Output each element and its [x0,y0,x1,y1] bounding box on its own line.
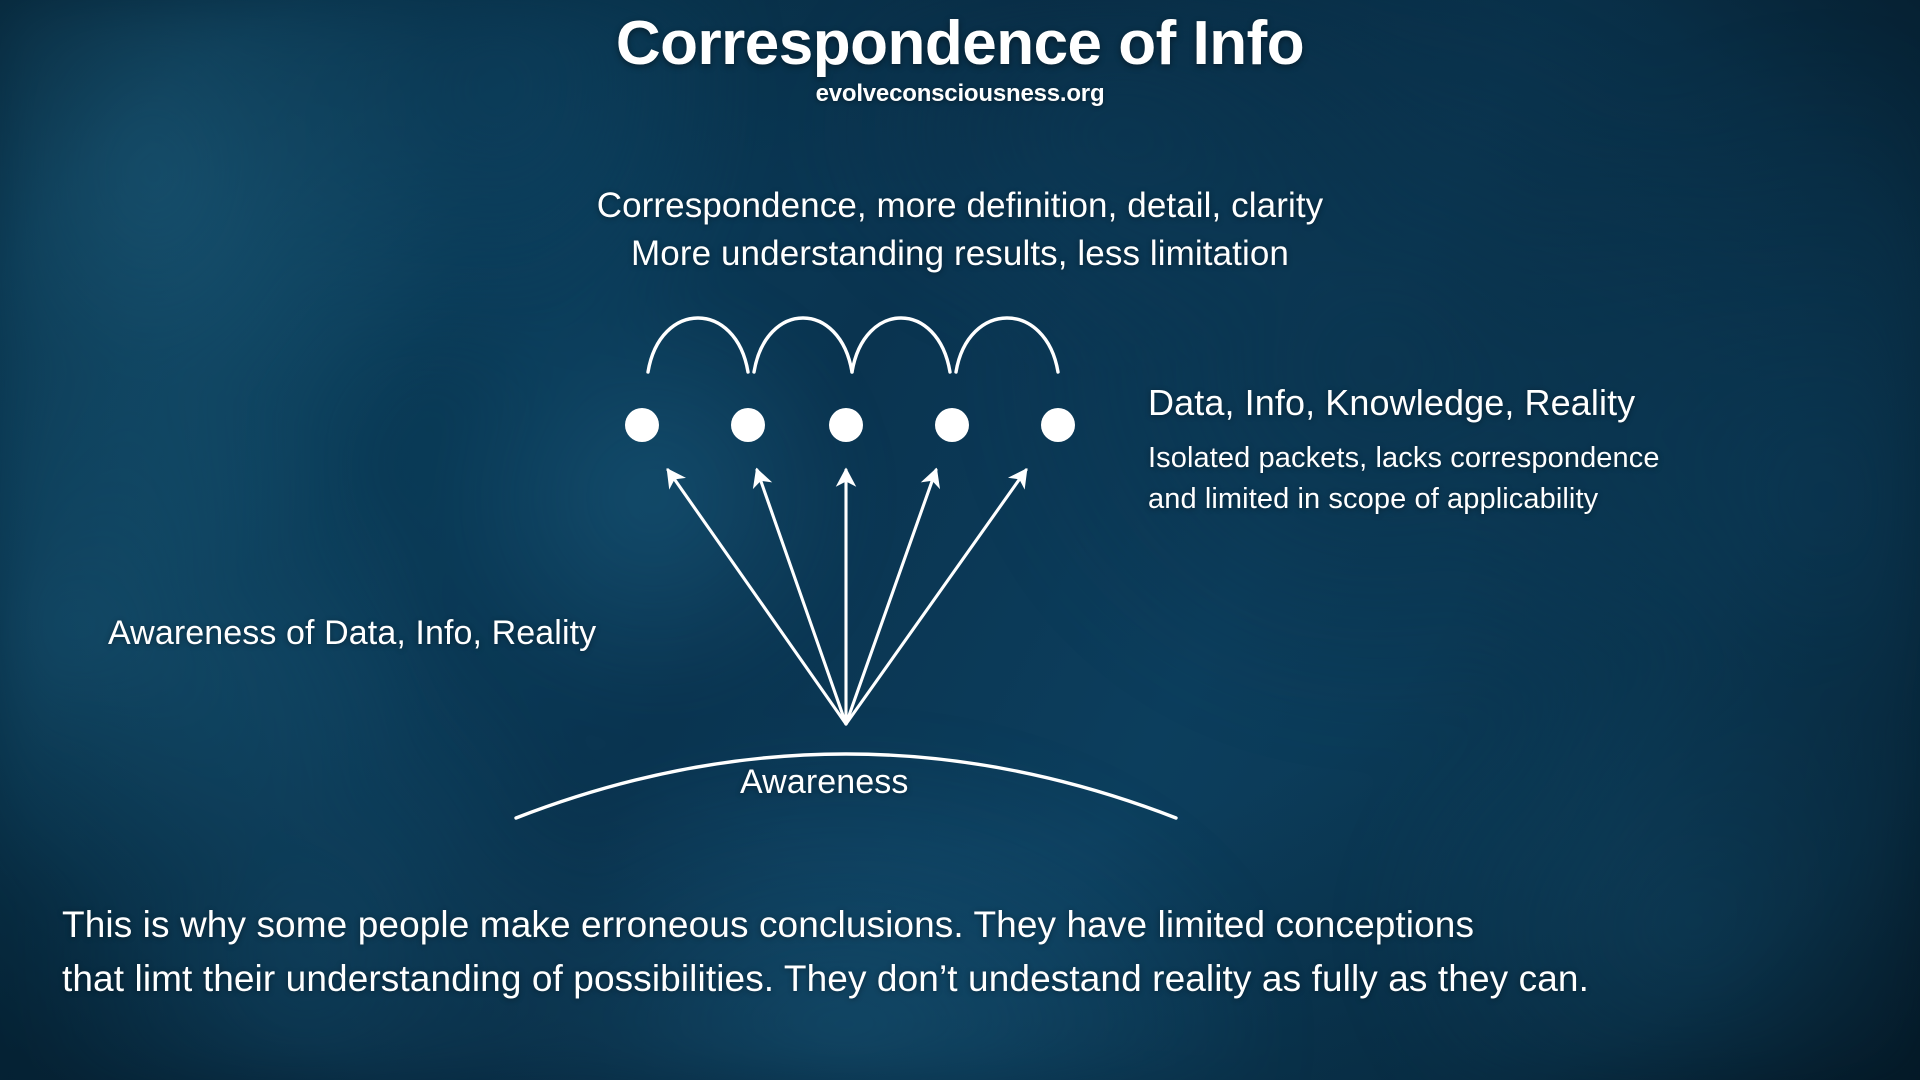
info-packet-node-1[interactable] [625,408,659,442]
awareness-arrow-group [668,470,1026,724]
awareness-label: Awareness [740,763,908,802]
site-url-label: evolveconsciousness.org [0,80,1920,108]
awareness-arrow-5 [846,470,1026,724]
slide-canvas: Correspondence of Info evolveconsciousne… [0,0,1920,1080]
connector-arc-4 [956,318,1058,372]
connector-arc-1 [648,318,748,372]
awareness-arrow-2 [757,470,846,724]
awareness-arrow-1 [668,470,846,724]
info-packet-node-5[interactable] [1041,408,1075,442]
conclusion-note: This is why some people make erroneous c… [62,898,1589,1006]
info-packet-node-4[interactable] [935,408,969,442]
info-packet-node-2[interactable] [731,408,765,442]
awareness-of-data-label: Awareness of Data, Info, Reality [108,614,596,653]
isolated-packets-description: Isolated packets, lacks correspondence a… [1148,438,1660,520]
connector-arc-group [648,318,1058,372]
connector-arc-3 [852,318,950,372]
awareness-arrow-4 [846,470,936,724]
correspondence-note: Correspondence, more definition, detail,… [0,182,1920,278]
info-packet-node-group [625,408,1075,442]
info-packet-node-3[interactable] [829,408,863,442]
page-title: Correspondence of Info [0,8,1920,79]
connector-arc-2 [754,318,852,372]
data-info-knowledge-heading: Data, Info, Knowledge, Reality [1148,382,1635,424]
